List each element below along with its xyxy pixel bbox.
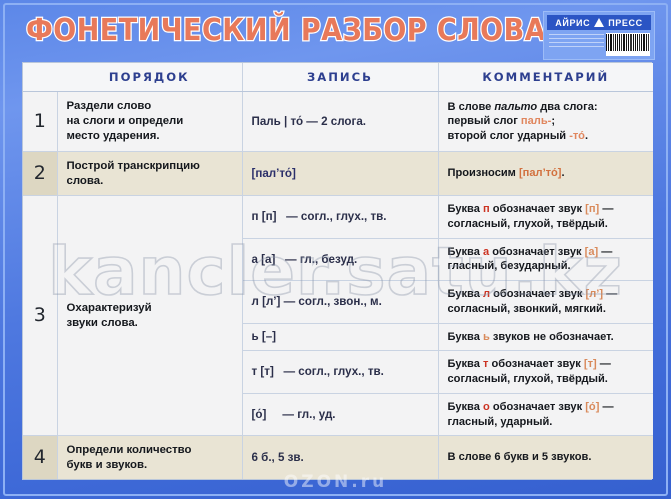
comment-fragment: п [483,203,490,215]
row-comment-text: Буква ь звуков не обозначает. [438,323,653,350]
comment-fragment: согласный, глухой, твёрдый. [448,218,608,230]
phonetic-analysis-table-container: ПОРЯДОК ЗАПИСЬ КОММЕНТАРИЙ 1Раздели слов… [22,62,652,480]
row-record-text: л [л’] — согл., звон., м. [242,281,438,324]
row-order-text: Раздели словона слоги и определиместо уд… [57,92,242,152]
table-row: 2Построй транскрипциюслова.[пал’то́]Прои… [23,152,653,196]
row-number: 1 [23,92,57,152]
comment-fragment: [п] [585,203,599,215]
comment-fragment: два слога: [537,101,597,113]
row-record-text: п [п] — согл., глух., тв. [242,195,438,238]
table-row: 1Раздели словона слоги и определиместо у… [23,92,653,152]
comment-fragment: о [483,401,490,413]
poster-header: ФОНЕТИЧЕСКИЙ РАЗБОР СЛОВА АЙРИС ПРЕСС [0,0,671,62]
row-comment-text: Буква о обозначает звук [о́] —гласный, у… [438,393,653,436]
row-number: 3 [23,195,57,435]
row-record-text: [пал’то́] [242,152,438,196]
row-order-text: Охарактеризуйзвуки слова. [57,195,242,435]
comment-fragment: . [585,130,588,142]
comment-fragment: Буква [448,401,483,413]
comment-fragment: Буква [448,203,483,215]
comment-fragment: Буква [448,358,483,370]
comment-fragment: обозначает звук [490,288,585,300]
comment-fragment: согласный, звонкий, мягкий. [448,303,606,315]
table-body: 1Раздели словона слоги и определиместо у… [23,92,653,480]
comment-fragment: Буква [448,331,483,343]
comment-fragment: обозначает звук [490,401,585,413]
comment-fragment: согласный, глухой, твёрдый. [448,373,608,385]
comment-fragment: л [483,288,490,300]
comment-fragment: В слове [448,101,495,113]
publisher-logo-bar: АЙРИС ПРЕСС [547,15,651,30]
table-header: ПОРЯДОК ЗАПИСЬ КОММЕНТАРИЙ [23,63,653,92]
table-row: 3Охарактеризуйзвуки слова.п [п] — согл.,… [23,195,653,238]
comment-fragment: [т] [584,358,597,370]
barcode-icon [606,33,650,56]
logo-decor-lines [549,34,604,54]
row-order-text: Построй транскрипциюслова. [57,152,242,196]
comment-fragment: ь [483,331,490,343]
comment-fragment: [о́] [585,401,599,413]
table-row: 4Определи количествобукв и звуков.6 б., … [23,436,653,479]
row-comment-text: Буква т обозначает звук [т] —согласный, … [438,351,653,394]
comment-fragment: — [598,246,612,258]
row-record-text: а [а] — гл., безуд. [242,238,438,281]
column-header-comment: КОММЕНТАРИЙ [438,63,653,92]
comment-fragment: Буква [448,246,483,258]
comment-fragment: Буква [448,288,483,300]
comment-fragment: паль- [521,115,551,127]
comment-fragment: гласный, безударный. [448,260,571,272]
comment-fragment: ; [551,115,555,127]
comment-fragment: — [599,401,613,413]
row-number: 2 [23,152,57,196]
publisher-name-left: АЙРИС [555,18,590,28]
row-record-text: Паль | то́ — 2 слога. [242,92,438,152]
row-record-text: т [т] — согл., глух., тв. [242,351,438,394]
comment-fragment: обозначает звук [490,203,585,215]
column-header-order: ПОРЯДОК [57,63,242,92]
table-header-row: ПОРЯДОК ЗАПИСЬ КОММЕНТАРИЙ [23,63,653,92]
row-record-text: [о́] — гл., уд. [242,393,438,436]
comment-fragment: гласный, ударный. [448,416,553,428]
comment-fragment: [пал’то́] [519,167,561,179]
poster-root: ФОНЕТИЧЕСКИЙ РАЗБОР СЛОВА АЙРИС ПРЕСС [0,0,671,499]
page-title: ФОНЕТИЧЕСКИЙ РАЗБОР СЛОВА [26,13,546,48]
row-number: 4 [23,436,57,479]
comment-fragment: — [599,203,613,215]
comment-fragment: обозначает звук [489,246,584,258]
column-header-number [23,63,57,92]
comment-fragment: — [603,288,617,300]
row-comment-text: В слове пальто два слога:первый слог пал… [438,92,653,152]
comment-fragment: Произносим [448,167,519,179]
comment-fragment: звуков не обозначает. [490,331,614,343]
comment-fragment: обозначает звук [488,358,583,370]
comment-fragment: . [561,167,564,179]
row-comment-text: В слове 6 букв и 5 звуков. [438,436,653,479]
row-record-text: 6 б., 5 зв. [242,436,438,479]
triangle-icon [594,18,604,27]
row-order-text: Определи количествобукв и звуков. [57,436,242,479]
comment-fragment: [а] [585,246,599,258]
comment-fragment: -то́ [569,130,585,142]
row-comment-text: Буква а обозначает звук [а] —гласный, бе… [438,238,653,281]
comment-fragment: В слове 6 букв и 5 звуков. [448,451,592,463]
row-comment-text: Буква л обозначает звук [л’] —согласный,… [438,281,653,324]
row-comment-text: Произносим [пал’то́]. [438,152,653,196]
comment-fragment: первый слог [448,115,521,127]
row-record-text: ь [–] [242,323,438,350]
comment-fragment: второй слог ударный [448,130,570,142]
row-comment-text: Буква п обозначает звук [п] —согласный, … [438,195,653,238]
publisher-name-right: ПРЕСС [608,18,642,28]
comment-fragment: пальто [494,101,537,113]
comment-fragment: [л’] [586,288,604,300]
column-header-record: ЗАПИСЬ [242,63,438,92]
phonetic-analysis-table: ПОРЯДОК ЗАПИСЬ КОММЕНТАРИЙ 1Раздели слов… [23,63,653,479]
comment-fragment: — [597,358,611,370]
publisher-logo: АЙРИС ПРЕСС [543,11,655,60]
